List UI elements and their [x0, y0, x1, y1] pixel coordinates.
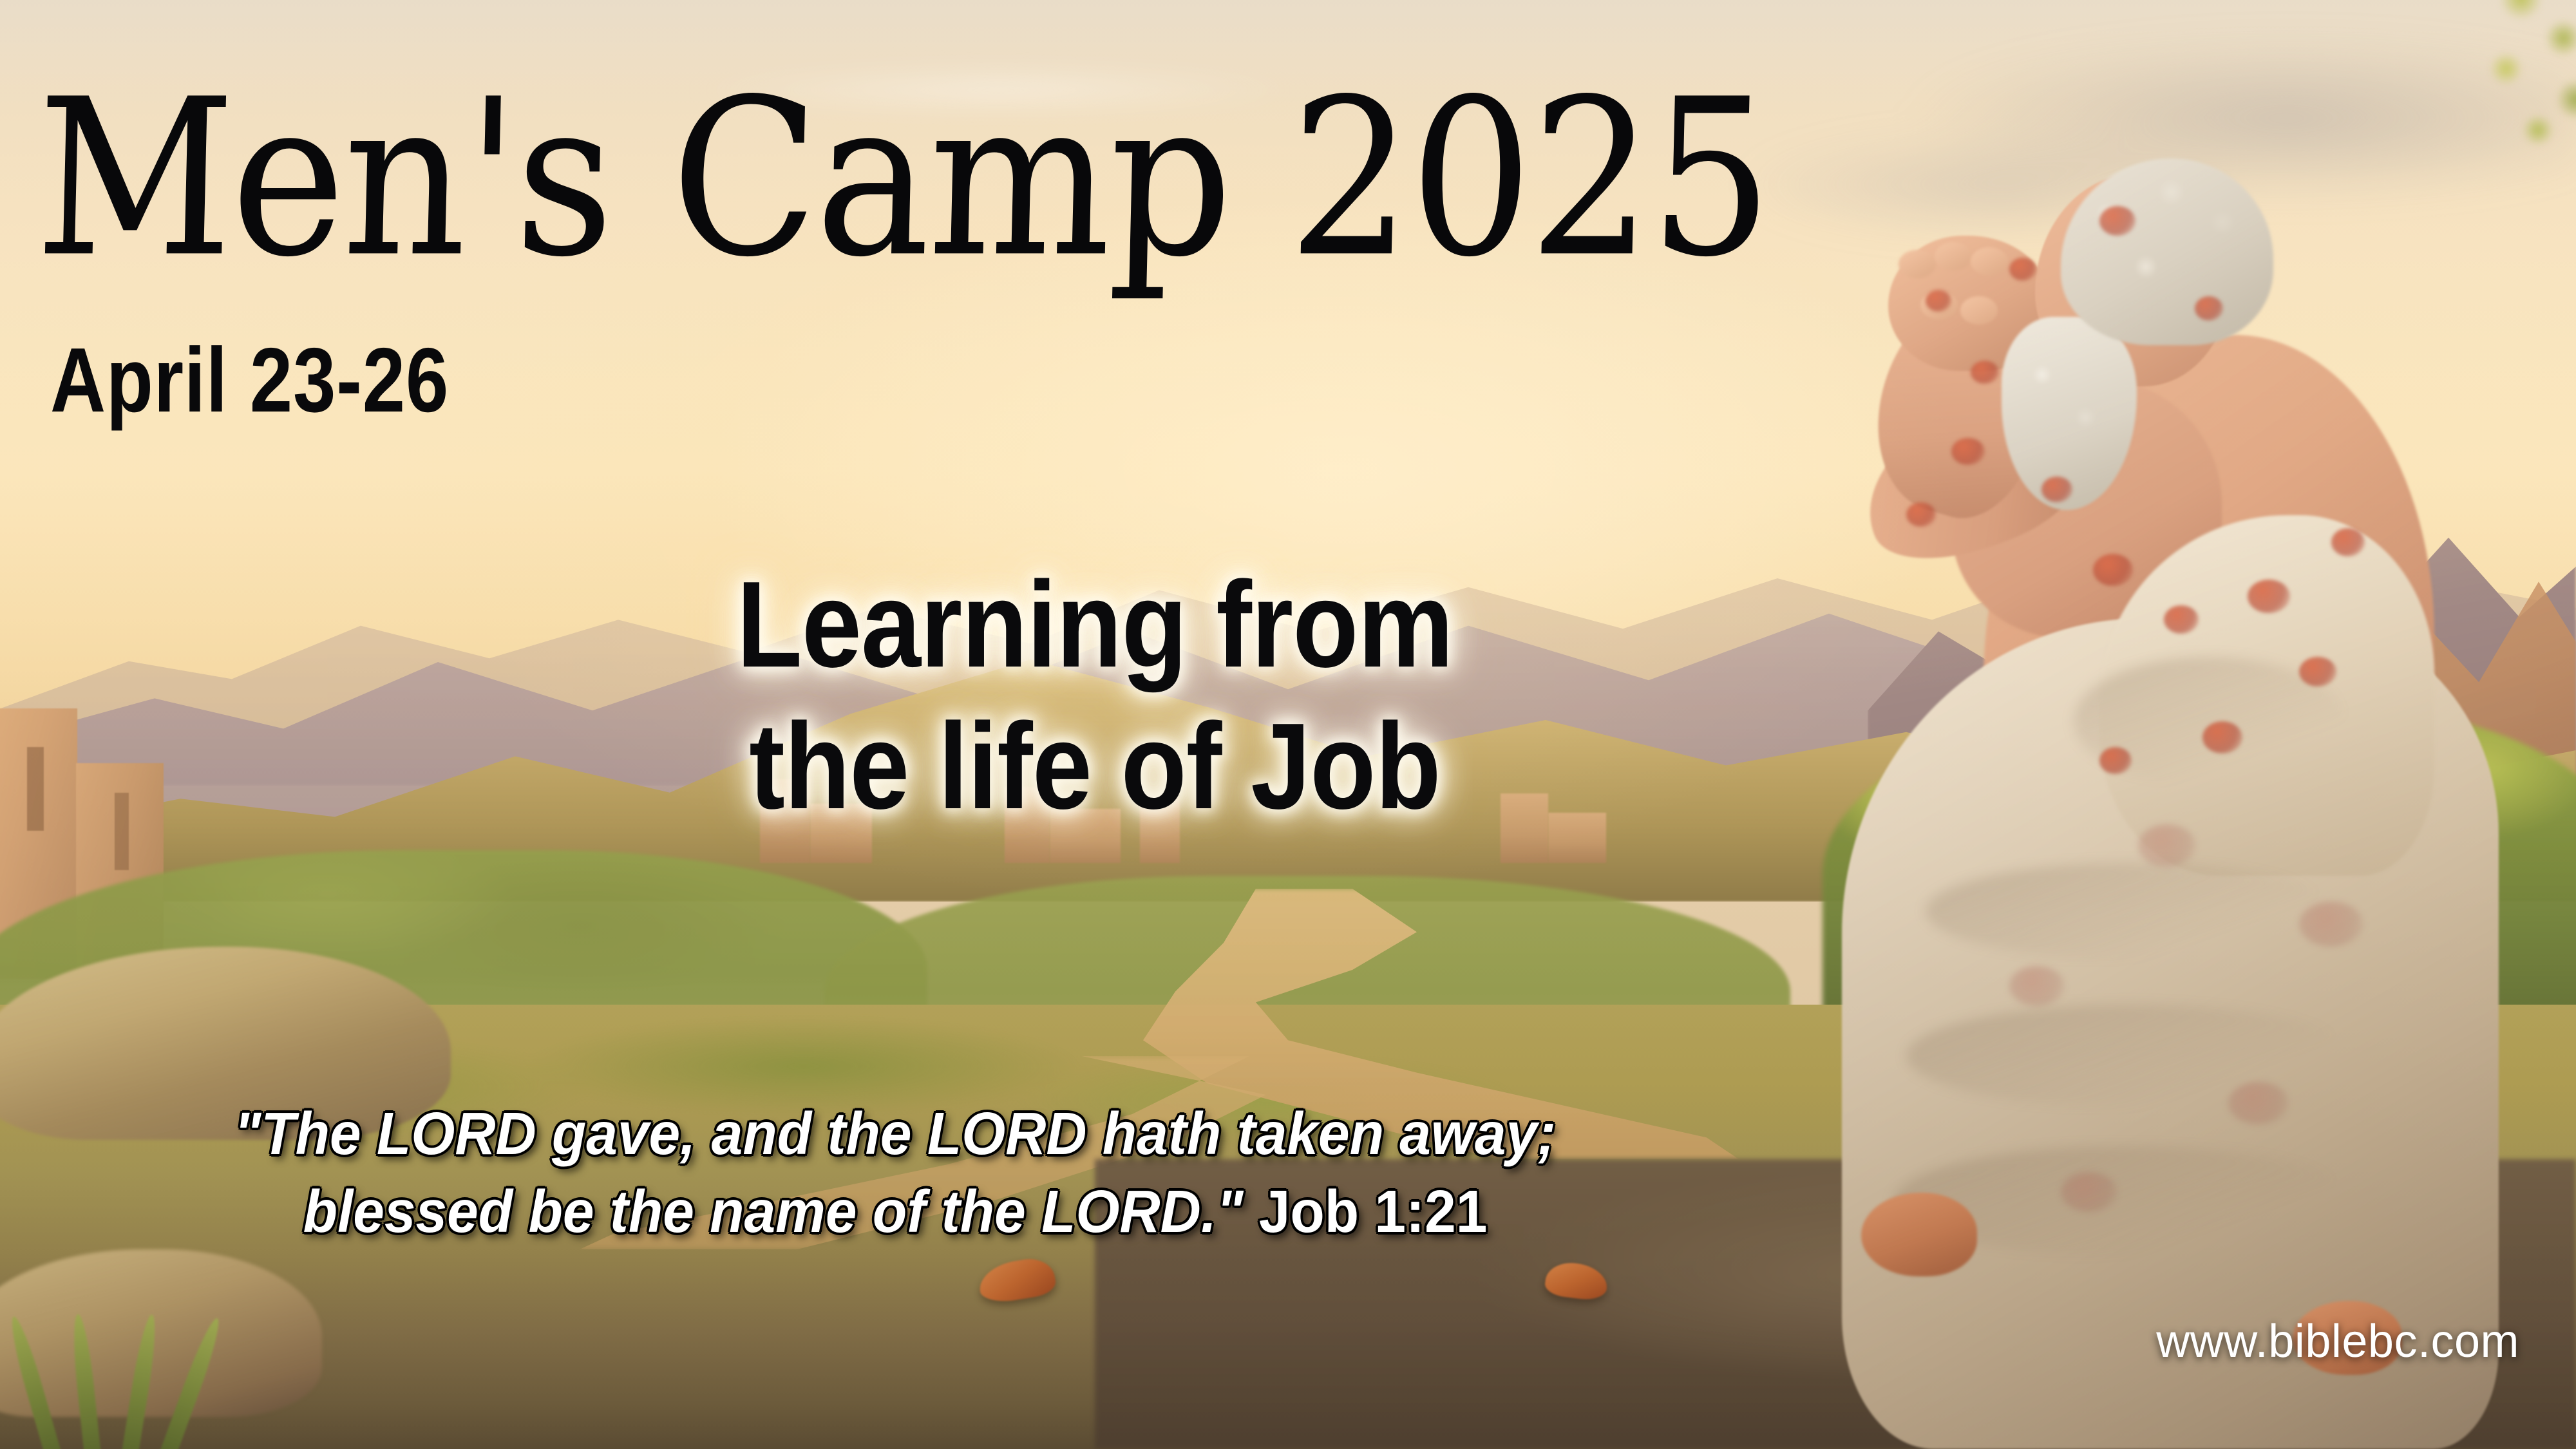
scripture-quote: "The LORD gave, and the LORD hath taken … — [78, 1095, 1712, 1251]
camp-dates: April 23-26 — [50, 335, 449, 426]
page-title: Men's Camp 2025 — [33, 71, 1773, 287]
camp-theme-headline: Learning from the life of Job — [573, 554, 1616, 838]
headline-line-2: the life of Job — [573, 696, 1616, 837]
website-url[interactable]: www.biblebc.com — [2156, 1315, 2519, 1368]
mens-camp-poster: Men's Camp 2025 April 23-26 Learning fro… — [0, 0, 2576, 1449]
verse-line-1: "The LORD gave, and the LORD hath taken … — [78, 1095, 1712, 1173]
verse-line-2: blessed be the name of the LORD." Job 1:… — [78, 1173, 1712, 1251]
verse-line-2-quote: blessed be the name of the LORD." — [303, 1178, 1244, 1245]
text-layer: Men's Camp 2025 April 23-26 Learning fro… — [0, 0, 2576, 1449]
headline-line-1: Learning from — [573, 554, 1616, 696]
verse-reference: Job 1:21 — [1243, 1178, 1487, 1245]
